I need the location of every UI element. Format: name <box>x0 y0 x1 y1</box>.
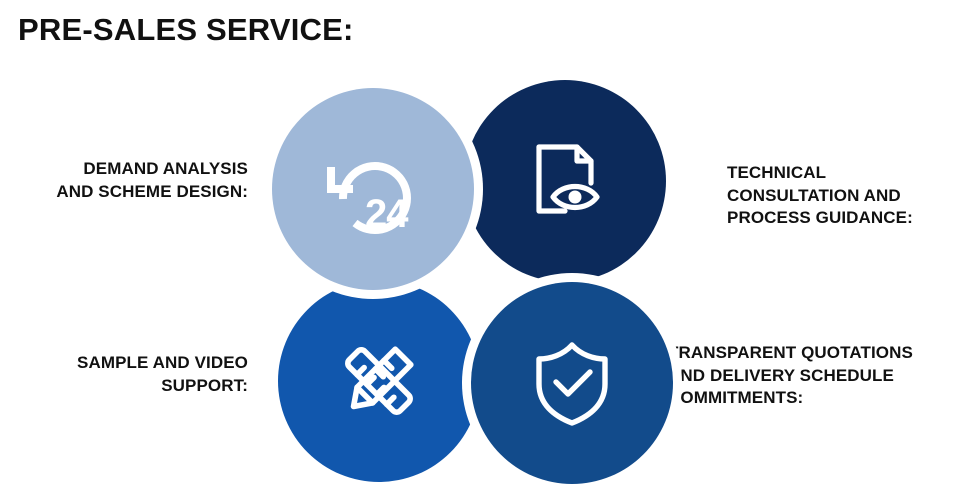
circle-sample-video-support[interactable] <box>278 280 480 482</box>
label-line: DEMAND ANALYSIS <box>8 158 248 181</box>
circle-cluster: 24 <box>268 80 678 492</box>
pencil-ruler-cross-icon <box>329 331 429 431</box>
circle-transparent-quotations[interactable] <box>471 282 673 484</box>
label-transparent-quotations: TRANSPARENT QUOTATIONS AND DELIVERY SCHE… <box>668 342 960 410</box>
shield-check-icon <box>525 336 619 430</box>
infographic-canvas: PRE-SALES SERVICE: DEMAND ANALYSIS AND S… <box>0 0 960 498</box>
label-line: AND SCHEME DESIGN: <box>8 181 248 204</box>
page-title: PRE-SALES SERVICE: <box>18 12 354 48</box>
24-hours-rotate-icon: 24 <box>321 139 425 239</box>
label-technical-consultation: TECHNICAL CONSULTATION AND PROCESS GUIDA… <box>727 162 953 230</box>
label-demand-analysis: DEMAND ANALYSIS AND SCHEME DESIGN: <box>8 158 248 203</box>
label-line: PROCESS GUIDANCE: <box>727 207 953 230</box>
document-eye-icon <box>517 133 613 229</box>
label-sample-video-support: SAMPLE AND VIDEO SUPPORT: <box>8 352 248 397</box>
label-line: COMMITMENTS: <box>668 387 960 410</box>
label-line: SAMPLE AND VIDEO <box>8 352 248 375</box>
label-line: TRANSPARENT QUOTATIONS <box>668 342 960 365</box>
label-line: SUPPORT: <box>8 375 248 398</box>
circle-demand-analysis[interactable]: 24 <box>272 88 474 290</box>
label-line: AND DELIVERY SCHEDULE <box>668 365 960 388</box>
icon-text-24: 24 <box>365 192 409 236</box>
circle-technical-consultation[interactable] <box>464 80 666 282</box>
label-line: CONSULTATION AND <box>727 185 953 208</box>
label-line: TECHNICAL <box>727 162 953 185</box>
